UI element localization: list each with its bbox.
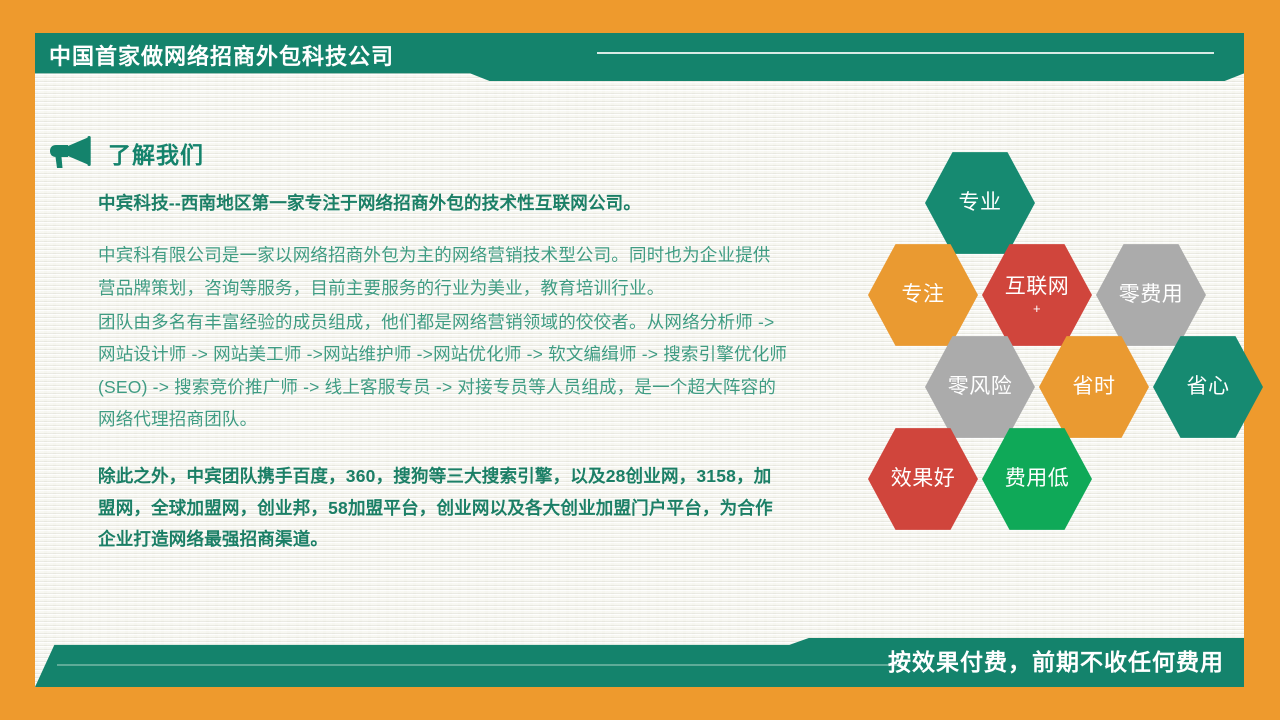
hexagon-tile: 专业 (925, 150, 1035, 256)
hexagon-label: 专注 (902, 283, 945, 306)
section-heading: 了解我们 (48, 133, 204, 173)
about-paragraph-2: 团队由多名有丰富经验的成员组成，他们都是网络营销领域的佼佼者。从网络分析师 ->… (98, 306, 788, 436)
hexagon-label: 互联网 (1005, 275, 1070, 298)
hexagon-label: 省时 (1073, 375, 1116, 398)
hexagon-tile: 费用低 (982, 426, 1092, 532)
section-title: 了解我们 (108, 136, 204, 170)
hexagon-tile: 专注 (868, 242, 978, 348)
header-bar: 中国首家做网络招商外包科技公司 (35, 33, 1244, 81)
hexagon-tile: 零费用 (1096, 242, 1206, 348)
about-paragraph-1: 中宾科有限公司是一家以网络招商外包为主的网络营销技术型公司。同时也为企业提供营品… (98, 239, 788, 304)
hexagon-label: 零费用 (1119, 283, 1184, 306)
hexagon-tile: 效果好 (868, 426, 978, 532)
megaphone-icon (48, 136, 92, 170)
header-title: 中国首家做网络招商外包科技公司 (49, 33, 394, 81)
about-lead: 中宾科技--西南地区第一家专注于网络招商外包的技术性互联网公司。 (98, 190, 788, 217)
footer-tagline: 按效果付费，前期不收任何费用 (888, 638, 1224, 687)
slide-canvas: 中国首家做网络招商外包科技公司 了解我们 中宾科技--西南地区第一家专注于网络招… (0, 0, 1280, 720)
footer-bar: 按效果付费，前期不收任何费用 (35, 638, 1244, 687)
hexagon-tile: 互联网+ (982, 242, 1092, 348)
hexagon-label: 专业 (959, 191, 1002, 214)
hexagon-sublabel: + (1033, 302, 1041, 315)
hexagon-label: 零风险 (948, 375, 1013, 398)
hexagon-tile: 省时 (1039, 334, 1149, 440)
about-closing: 除此之外，中宾团队携手百度，360，搜狗等三大搜索引擎，以及28创业网，3158… (98, 435, 788, 554)
footer-divider-line (57, 664, 903, 666)
hexagon-tile: 省心 (1153, 334, 1263, 440)
header-divider-line (597, 52, 1214, 54)
hexagon-label: 效果好 (891, 467, 956, 490)
about-text-block: 中宾科技--西南地区第一家专注于网络招商外包的技术性互联网公司。 中宾科有限公司… (98, 190, 788, 555)
hexagon-cluster: 专业专注互联网+零费用零风险省时省心效果好费用低 (830, 150, 1250, 550)
hexagon-label: 费用低 (1005, 467, 1070, 490)
hexagon-tile: 零风险 (925, 334, 1035, 440)
hexagon-label: 省心 (1187, 375, 1230, 398)
